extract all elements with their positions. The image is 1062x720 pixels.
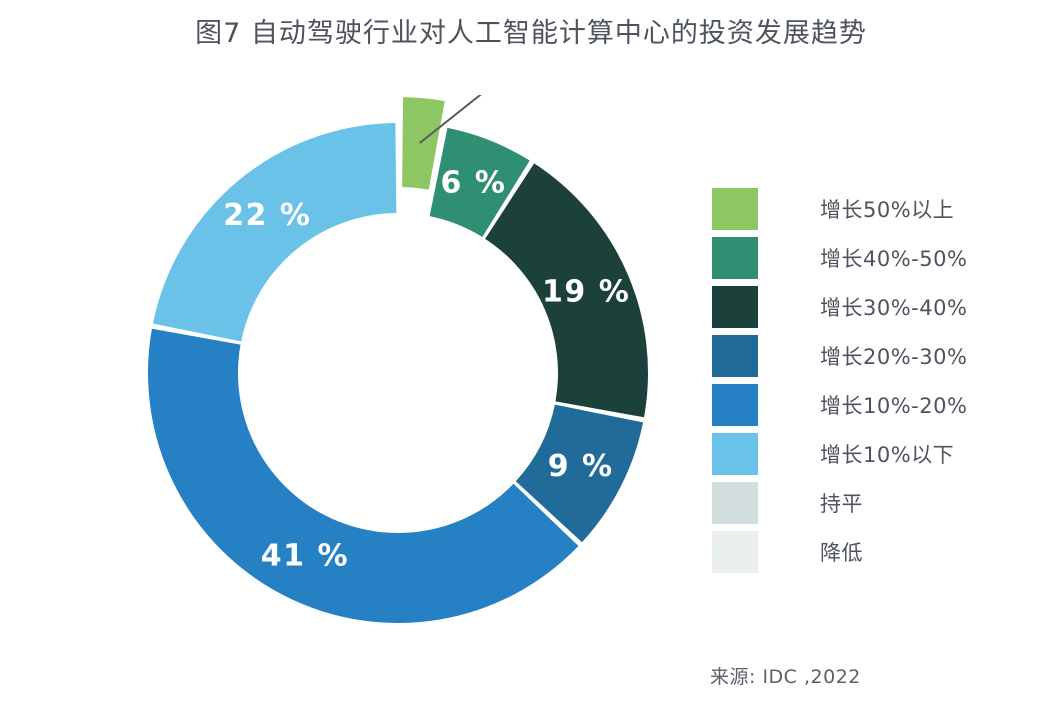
legend-item-label: 持平: [820, 488, 863, 518]
donut-slice[interactable]: [148, 329, 578, 623]
donut-chart-svg: 6 %19 %9 %41 %22 % 3 %: [118, 95, 688, 655]
legend-item-label: 降低: [820, 537, 863, 567]
legend-item[interactable]: 增长30%-40%: [712, 282, 1012, 331]
legend-swatch: [712, 335, 758, 377]
legend-swatch: [712, 433, 758, 475]
legend-swatch: [712, 286, 758, 328]
legend-item-label: 增长20%-30%: [820, 341, 967, 371]
legend-item[interactable]: 持平: [712, 478, 1012, 527]
legend-item-label: 增长50%以上: [820, 194, 954, 224]
legend-swatch: [712, 188, 758, 230]
legend-swatch: [712, 384, 758, 426]
legend-swatch: [712, 482, 758, 524]
legend-item[interactable]: 增长40%-50%: [712, 233, 1012, 282]
legend-item[interactable]: 增长10%以下: [712, 429, 1012, 478]
legend-item[interactable]: 降低: [712, 527, 1012, 576]
page-title: 图7 自动驾驶行业对人工智能计算中心的投资发展趋势: [0, 14, 1062, 54]
legend-item-label: 增长40%-50%: [820, 243, 967, 273]
donut-chart: 6 %19 %9 %41 %22 % 3 %: [118, 95, 688, 655]
legend-item[interactable]: 增长10%-20%: [712, 380, 1012, 429]
slice-value-label: 6 %: [441, 165, 507, 200]
legend-item-label: 增长10%以下: [820, 439, 954, 469]
donut-slices: [148, 97, 648, 623]
slice-value-label: 9 %: [548, 449, 614, 484]
legend-item-label: 增长30%-40%: [820, 292, 967, 322]
legend-item[interactable]: 增长20%-30%: [712, 331, 1012, 380]
source-note: 来源: IDC ,2022: [710, 662, 861, 689]
legend: 增长50%以上增长40%-50%增长30%-40%增长20%-30%增长10%-…: [712, 184, 1012, 576]
slice-value-label: 19 %: [542, 275, 630, 310]
legend-item[interactable]: 增长50%以上: [712, 184, 1012, 233]
slice-value-label: 22 %: [223, 198, 311, 233]
slice-value-label: 41 %: [261, 539, 349, 574]
legend-item-label: 增长10%-20%: [820, 390, 967, 420]
legend-swatch: [712, 531, 758, 573]
legend-swatch: [712, 237, 758, 279]
